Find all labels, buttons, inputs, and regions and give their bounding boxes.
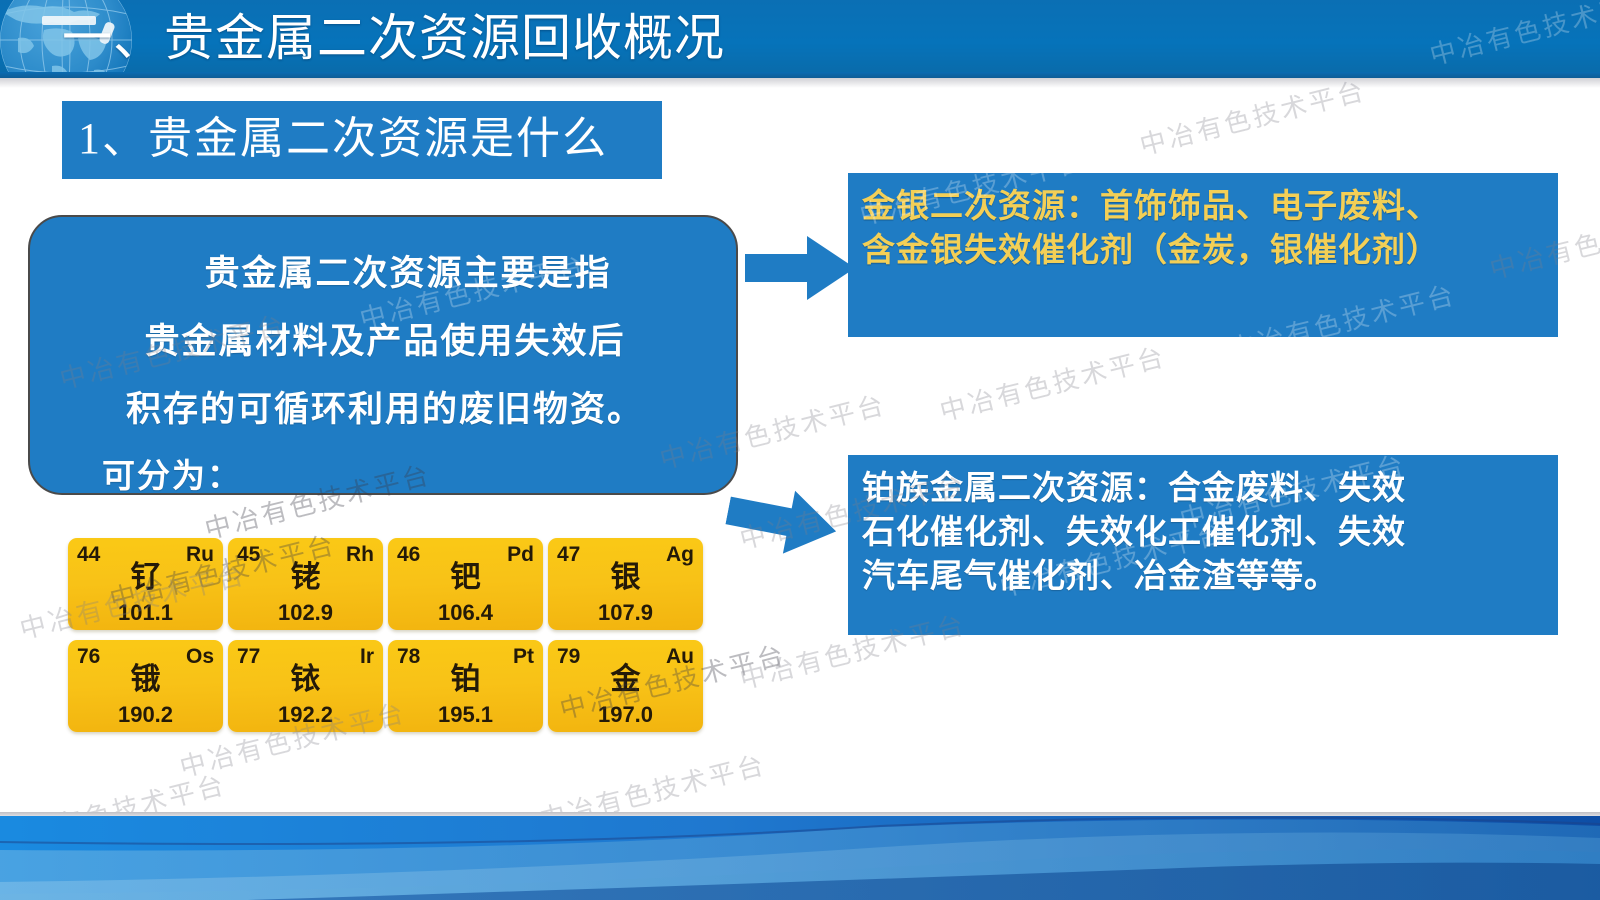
element-chinese-name: 钯 bbox=[388, 562, 543, 594]
page-title: 一、贵金属二次资源回收概况 bbox=[62, 0, 725, 78]
gold-silver-box: 金银二次资源：首饰饰品、电子废料、 含金银失效催化剂（金炭，银催化剂） bbox=[848, 173, 1558, 337]
gold-silver-line-1: 金银二次资源：首饰饰品、电子废料、 bbox=[862, 185, 1550, 229]
pgm-line-2: 石化催化剂、失效化工催化剂、失效 bbox=[862, 511, 1550, 555]
element-chinese-name: 锇 bbox=[68, 664, 223, 696]
arrow-to-pgm-box bbox=[721, 475, 843, 567]
definition-line-4: 可分为： bbox=[30, 449, 740, 497]
element-mass: 197.0 bbox=[548, 702, 703, 728]
element-mass: 102.9 bbox=[228, 600, 383, 626]
element-cell-pd[interactable]: 46 Pd 钯 106.4 bbox=[388, 538, 543, 630]
periodic-table: 44 Ru 钌 101.1 45 Rh 铑 102.9 46 Pd 钯 106.… bbox=[68, 538, 718, 743]
element-chinese-name: 金 bbox=[548, 664, 703, 696]
slide-footer: 贵金属集团 Precious Metals Group Y 中冶有色技术网 bbox=[0, 812, 1600, 900]
element-chinese-name: 铱 bbox=[228, 664, 383, 696]
periodic-table-row: 44 Ru 钌 101.1 45 Rh 铑 102.9 46 Pd 钯 106.… bbox=[68, 538, 718, 636]
slide-root: 一、贵金属二次资源回收概况 1、贵金属二次资源是什么 贵金属二次资源主要是指 贵… bbox=[0, 0, 1600, 900]
slide-header: 一、贵金属二次资源回收概况 bbox=[0, 0, 1600, 78]
element-cell-pt[interactable]: 78 Pt 铂 195.1 bbox=[388, 640, 543, 732]
arrow-to-gold-silver-box bbox=[745, 232, 855, 304]
element-chinese-name: 银 bbox=[548, 562, 703, 594]
element-mass: 107.9 bbox=[548, 600, 703, 626]
element-cell-ag[interactable]: 47 Ag 银 107.9 bbox=[548, 538, 703, 630]
definition-line-1: 贵金属二次资源主要是指 bbox=[30, 245, 740, 296]
element-chinese-name: 铑 bbox=[228, 562, 383, 594]
element-mass: 192.2 bbox=[228, 702, 383, 728]
definition-box: 贵金属二次资源主要是指 贵金属材料及产品使用失效后 积存的可循环利用的废旧物资。… bbox=[28, 215, 738, 495]
right-arrow-icon bbox=[745, 232, 855, 304]
pgm-line-3: 汽车尾气催化剂、冶金渣等等。 bbox=[862, 555, 1550, 599]
element-cell-ru[interactable]: 44 Ru 钌 101.1 bbox=[68, 538, 223, 630]
section-subtitle-text: 1、贵金属二次资源是什么 bbox=[78, 105, 608, 173]
pgm-line-1: 铂族金属二次资源：合金废料、失效 bbox=[862, 467, 1550, 511]
definition-line-2: 贵金属材料及产品使用失效后 bbox=[30, 313, 740, 364]
element-mass: 190.2 bbox=[68, 702, 223, 728]
element-cell-ir[interactable]: 77 Ir 铱 192.2 bbox=[228, 640, 383, 732]
right-arrow-icon bbox=[721, 475, 843, 567]
watermark: 中冶有色技术平台 bbox=[936, 336, 1170, 428]
element-cell-au[interactable]: 79 Au 金 197.0 bbox=[548, 640, 703, 732]
element-mass: 195.1 bbox=[388, 702, 543, 728]
element-chinese-name: 钌 bbox=[68, 562, 223, 594]
element-cell-rh[interactable]: 45 Rh 铑 102.9 bbox=[228, 538, 383, 630]
gold-silver-line-2: 含金银失效催化剂（金炭，银催化剂） bbox=[862, 229, 1550, 273]
section-subtitle-box: 1、贵金属二次资源是什么 bbox=[62, 101, 662, 179]
definition-line-3: 积存的可循环利用的废旧物资。 bbox=[30, 381, 740, 432]
footer-wave-graphic bbox=[0, 816, 1600, 900]
element-mass: 106.4 bbox=[388, 600, 543, 626]
element-chinese-name: 铂 bbox=[388, 664, 543, 696]
element-mass: 101.1 bbox=[68, 600, 223, 626]
header-shadow bbox=[0, 78, 1600, 88]
element-cell-os[interactable]: 76 Os 锇 190.2 bbox=[68, 640, 223, 732]
pgm-box: 铂族金属二次资源：合金废料、失效 石化催化剂、失效化工催化剂、失效 汽车尾气催化… bbox=[848, 455, 1558, 635]
periodic-table-row: 76 Os 锇 190.2 77 Ir 铱 192.2 78 Pt 铂 195.… bbox=[68, 640, 718, 738]
